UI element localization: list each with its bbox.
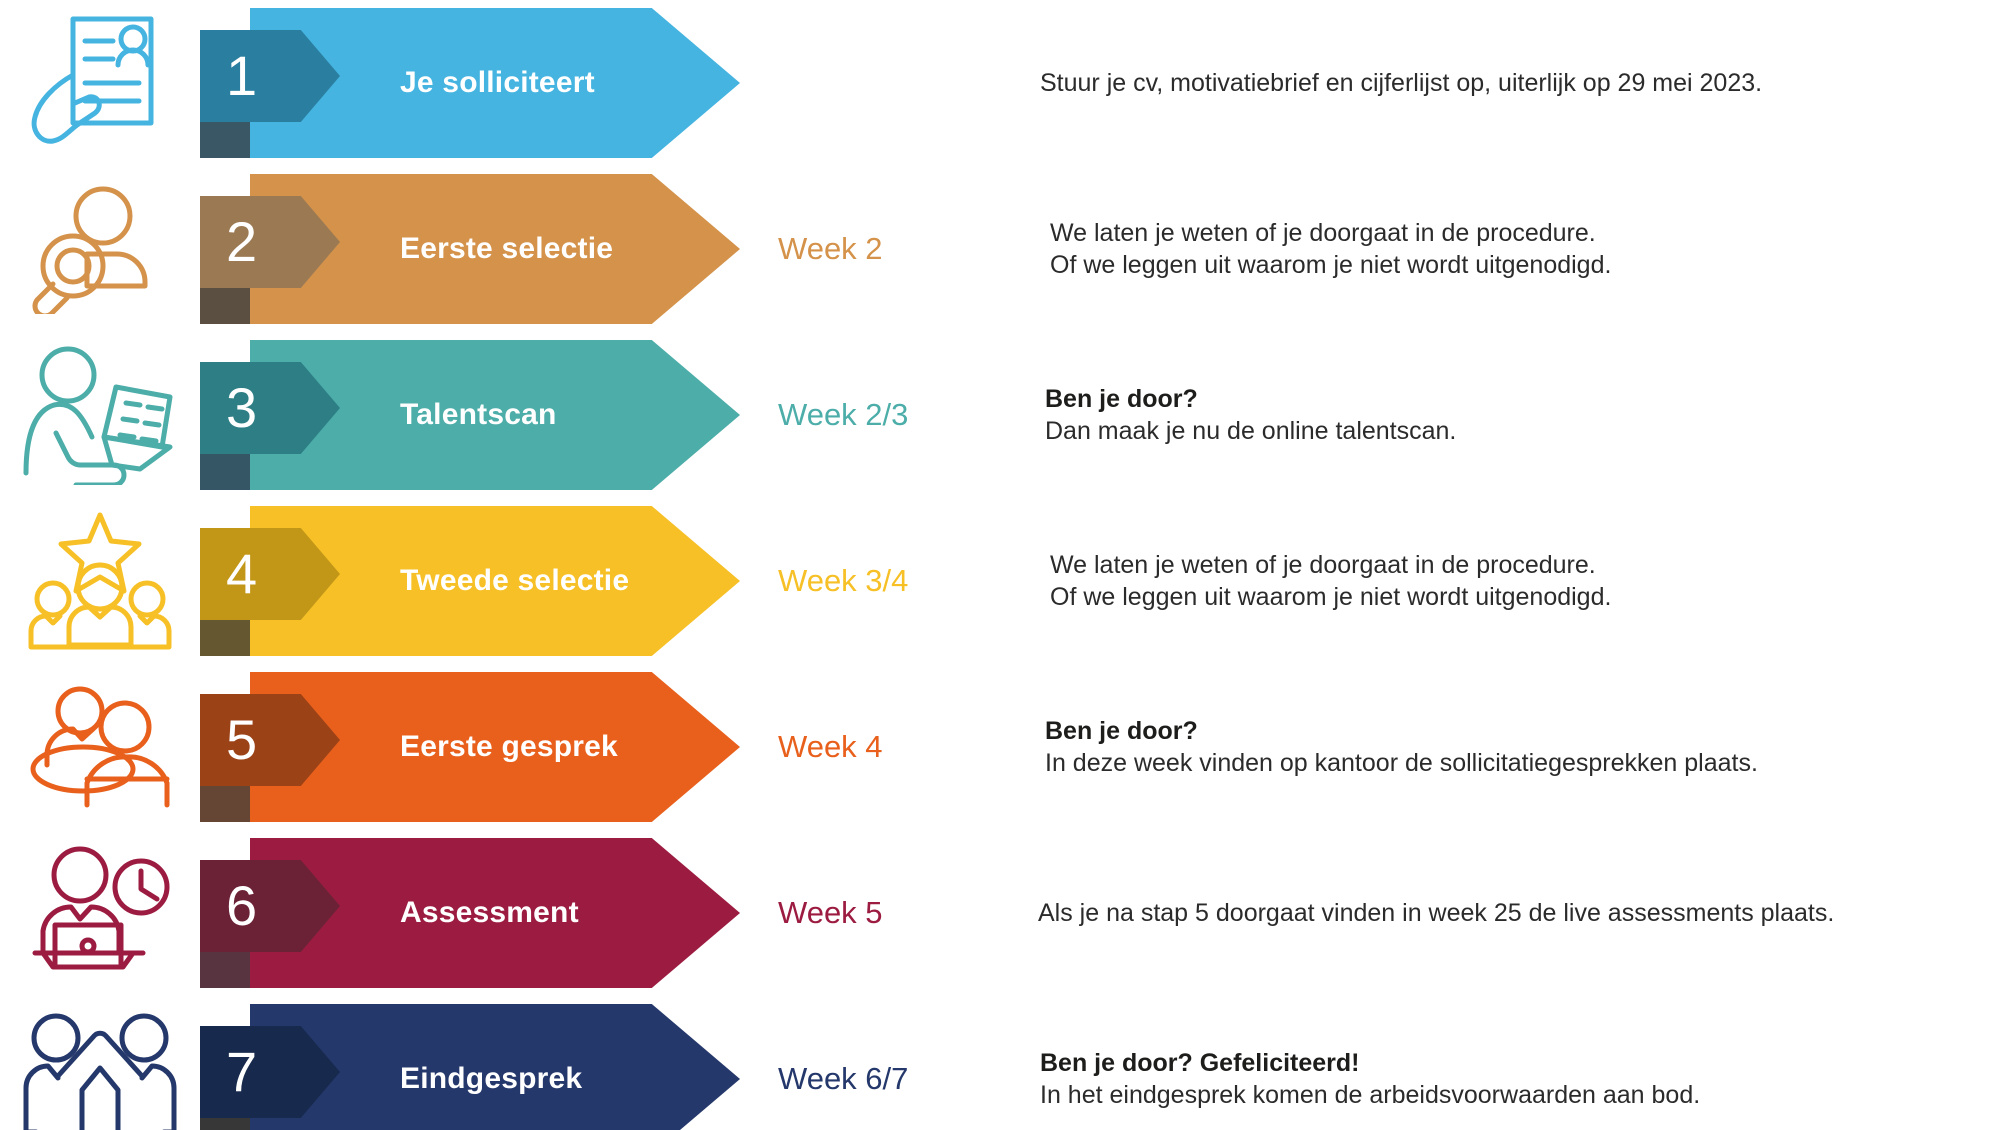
step-week-label: Week 4 [778, 729, 883, 765]
step-week-cell: Week 4 [760, 664, 1010, 830]
step-description-line: In het eindgesprek komen de arbeidsvoorw… [1040, 1079, 1988, 1112]
step-description-heading: Ben je door? [1045, 715, 1988, 747]
process-step-row: 4Tweede selectieWeek 3/4We laten je wete… [0, 498, 2008, 664]
step-icon-cell [0, 0, 200, 166]
process-step-row: 6AssessmentWeek 5Als je na stap 5 doorga… [0, 830, 2008, 996]
step-week-cell: Week 2/3 [760, 332, 1010, 498]
step-banner[interactable]: 3Talentscan [200, 332, 760, 498]
group-star-icon [25, 509, 175, 654]
step-description-line: In deze week vinden op kantoor de sollic… [1045, 747, 1988, 780]
step-description-line: Stuur je cv, motivatiebrief en cijferlij… [1040, 67, 1988, 100]
step-banner[interactable]: 1Je solliciteert [200, 0, 760, 166]
step-number: 5 [226, 712, 257, 768]
step-number: 7 [226, 1044, 257, 1100]
step-week-label: Week 2 [778, 231, 883, 267]
step-icon-cell [0, 498, 200, 664]
step-title: Tweede selectie [400, 498, 629, 664]
process-infographic: 1Je solliciteertStuur je cv, motivatiebr… [0, 0, 2008, 1130]
step-banner[interactable]: 2Eerste selectie [200, 166, 760, 332]
step-banner[interactable]: 6Assessment [200, 830, 760, 996]
step-number: 1 [226, 48, 257, 104]
step-description: We laten je weten of je doorgaat in de p… [1010, 166, 2008, 332]
step-description-heading: Ben je door? Gefeliciteerd! [1040, 1047, 1988, 1079]
step-week-cell: Week 2 [760, 166, 1010, 332]
step-description-line: Dan maak je nu de online talentscan. [1045, 415, 1988, 448]
step-title: Talentscan [400, 332, 557, 498]
two-people-talking-icon [25, 685, 175, 810]
step-description-line: Of we leggen uit waarom je niet wordt ui… [1050, 249, 1988, 282]
step-description: Ben je door?Dan maak je nu de online tal… [1010, 332, 2008, 498]
step-description-line: Of we leggen uit waarom je niet wordt ui… [1050, 581, 1988, 614]
step-banner[interactable]: 5Eerste gesprek [200, 664, 760, 830]
step-description-line: We laten je weten of je doorgaat in de p… [1050, 217, 1988, 250]
person-magnifier-icon [25, 184, 175, 314]
step-icon-cell [0, 830, 200, 996]
step-icon-cell [0, 996, 200, 1130]
step-week-label: Week 5 [778, 895, 883, 931]
step-week-label: Week 6/7 [778, 1061, 908, 1097]
step-week-cell: Week 5 [760, 830, 1010, 996]
step-icon-cell [0, 332, 200, 498]
person-laptop-clock-icon [25, 843, 175, 983]
step-number: 3 [226, 380, 257, 436]
step-week-label: Week 2/3 [778, 397, 908, 433]
step-banner[interactable]: 7Eindgesprek [200, 996, 760, 1130]
process-step-row: 3TalentscanWeek 2/3Ben je door?Dan maak … [0, 332, 2008, 498]
step-description-line: We laten je weten of je doorgaat in de p… [1050, 549, 1988, 582]
step-title: Eindgesprek [400, 996, 582, 1130]
process-step-row: 7EindgesprekWeek 6/7Ben je door? Gefelic… [0, 996, 2008, 1130]
process-step-row: 5Eerste gesprekWeek 4Ben je door?In deze… [0, 664, 2008, 830]
process-step-row: 2Eerste selectieWeek 2We laten je weten … [0, 166, 2008, 332]
step-number: 4 [226, 546, 257, 602]
person-laptop-icon [20, 345, 180, 485]
step-description: Als je na stap 5 doorgaat vinden in week… [1010, 830, 2008, 996]
step-title: Eerste selectie [400, 166, 613, 332]
step-icon-cell [0, 166, 200, 332]
process-step-row: 1Je solliciteertStuur je cv, motivatiebr… [0, 0, 2008, 166]
cv-document-hand-icon [25, 13, 175, 153]
step-week-cell [760, 0, 1010, 166]
step-week-cell: Week 3/4 [760, 498, 1010, 664]
step-description: Ben je door?In deze week vinden op kanto… [1010, 664, 2008, 830]
step-description-heading: Ben je door? [1045, 383, 1988, 415]
high-five-people-icon [20, 1012, 180, 1130]
step-description-line: Als je na stap 5 doorgaat vinden in week… [1038, 897, 1988, 930]
step-week-cell: Week 6/7 [760, 996, 1010, 1130]
step-description: Stuur je cv, motivatiebrief en cijferlij… [1010, 0, 2008, 166]
step-title: Eerste gesprek [400, 664, 618, 830]
step-banner[interactable]: 4Tweede selectie [200, 498, 760, 664]
step-number: 2 [226, 214, 257, 270]
step-title: Assessment [400, 830, 579, 996]
step-number: 6 [226, 878, 257, 934]
step-icon-cell [0, 664, 200, 830]
step-week-label: Week 3/4 [778, 563, 908, 599]
step-title: Je solliciteert [400, 0, 595, 166]
step-description: Ben je door? Gefeliciteerd!In het eindge… [1010, 996, 2008, 1130]
step-description: We laten je weten of je doorgaat in de p… [1010, 498, 2008, 664]
